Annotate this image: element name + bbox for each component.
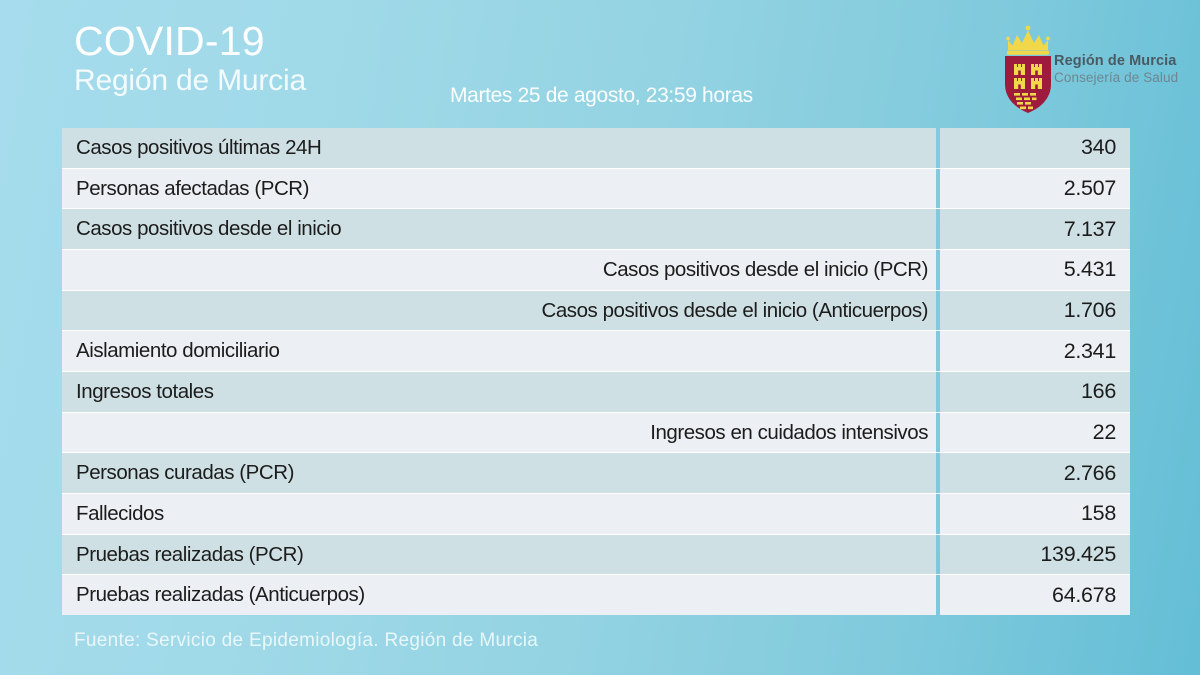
metric-sublabel: Ingresos en cuidados intensivos	[62, 413, 936, 453]
metric-label: Casos positivos últimas 24H	[62, 128, 936, 168]
table-row: Ingresos totales166	[62, 372, 1130, 413]
covid-statistics-slide: COVID-19 Región de Murcia Martes 25 de a…	[0, 0, 1200, 675]
metric-label: Aislamiento domiciliario	[62, 331, 936, 371]
metric-label: Casos positivos desde el inicio	[62, 209, 936, 249]
metric-value: 1.706	[940, 291, 1130, 331]
table-row: Casos positivos desde el inicio7.137	[62, 209, 1130, 250]
metric-value: 2.507	[940, 169, 1130, 209]
coat-of-arms-icon	[1000, 22, 1056, 122]
metric-label: Personas afectadas (PCR)	[62, 169, 936, 209]
metric-value: 22	[940, 413, 1130, 453]
metric-value: 5.431	[940, 250, 1130, 290]
metric-label: Ingresos totales	[62, 372, 936, 412]
table-row: Personas curadas (PCR)2.766	[62, 453, 1130, 494]
table-row: Casos positivos últimas 24H340	[62, 128, 1130, 169]
metric-value: 7.137	[940, 209, 1130, 249]
metric-value: 2.766	[940, 453, 1130, 493]
table-row: Personas afectadas (PCR)2.507	[62, 169, 1130, 210]
metric-value: 340	[940, 128, 1130, 168]
statistics-table: Casos positivos últimas 24H340Personas a…	[62, 128, 1130, 615]
table-row: Aislamiento domiciliario2.341	[62, 331, 1130, 372]
metric-label: Fallecidos	[62, 494, 936, 534]
page-title: COVID-19	[74, 18, 306, 64]
metric-label: Pruebas realizadas (Anticuerpos)	[62, 575, 936, 615]
metric-value: 166	[940, 372, 1130, 412]
region-de-murcia-logo: Región de Murcia Consejería de Salud	[988, 22, 1188, 122]
metric-sublabel: Casos positivos desde el inicio (PCR)	[62, 250, 936, 290]
metric-value: 64.678	[940, 575, 1130, 615]
table-row: Ingresos en cuidados intensivos22	[62, 413, 1130, 454]
logo-org-name: Región de Murcia	[1054, 53, 1188, 70]
metric-value: 139.425	[940, 535, 1130, 575]
logo-org-department: Consejería de Salud	[1054, 70, 1188, 86]
metric-label: Pruebas realizadas (PCR)	[62, 535, 936, 575]
title-block: COVID-19 Región de Murcia	[74, 18, 306, 98]
report-datetime: Martes 25 de agosto, 23:59 horas	[450, 84, 753, 108]
slide-header: COVID-19 Región de Murcia Martes 25 de a…	[0, 0, 1200, 128]
metric-sublabel: Casos positivos desde el inicio (Anticue…	[62, 291, 936, 331]
table-row: Casos positivos desde el inicio (PCR)5.4…	[62, 250, 1130, 291]
logo-text-block: Región de Murcia Consejería de Salud	[1054, 53, 1188, 86]
page-subtitle: Región de Murcia	[74, 64, 306, 98]
metric-value: 2.341	[940, 331, 1130, 371]
table-row: Casos positivos desde el inicio (Anticue…	[62, 291, 1130, 332]
table-row: Fallecidos158	[62, 494, 1130, 535]
metric-label: Personas curadas (PCR)	[62, 453, 936, 493]
metric-value: 158	[940, 494, 1130, 534]
table-row: Pruebas realizadas (Anticuerpos)64.678	[62, 575, 1130, 615]
table-row: Pruebas realizadas (PCR)139.425	[62, 535, 1130, 576]
source-note: Fuente: Servicio de Epidemiología. Regió…	[74, 630, 538, 652]
